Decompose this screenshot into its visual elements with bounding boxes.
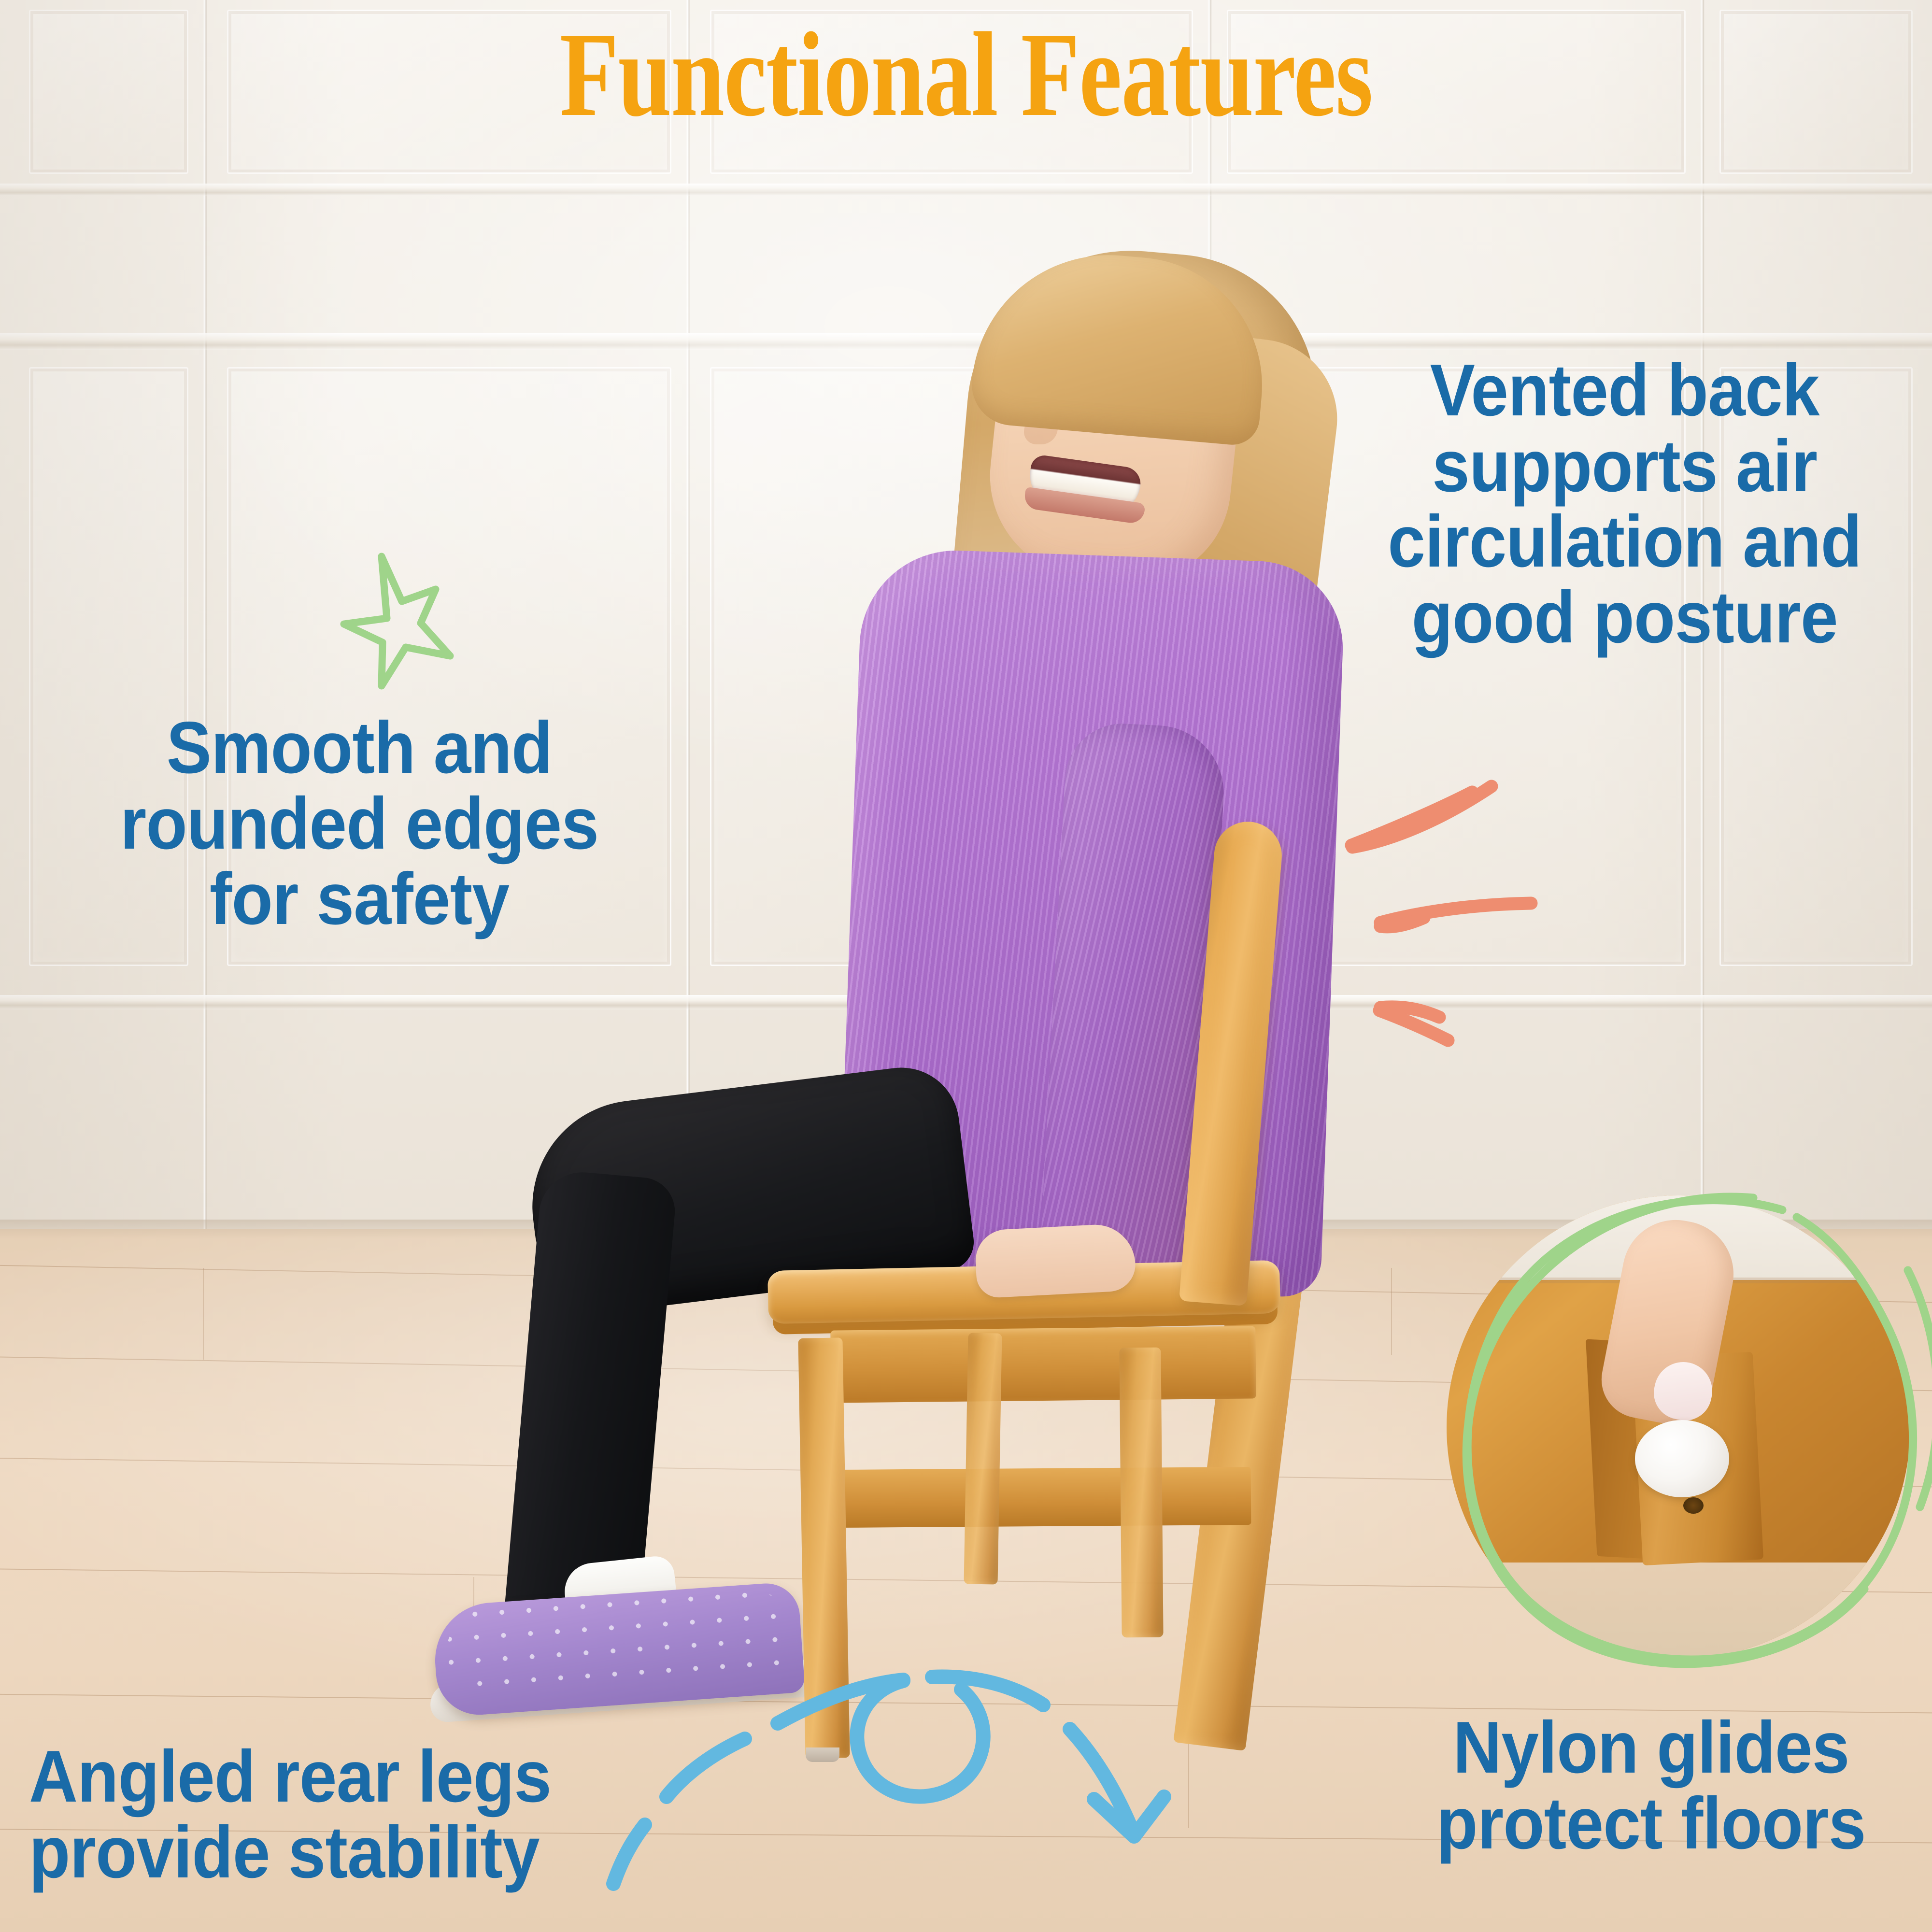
callout-line: good posture bbox=[1367, 580, 1882, 655]
white-nylon-glide bbox=[1635, 1420, 1729, 1497]
callout-line: Vented back bbox=[1367, 353, 1882, 428]
callout-line: protect floors bbox=[1420, 1786, 1882, 1861]
callout-line: for safety bbox=[104, 861, 615, 937]
callout-smooth-edges: Smooth and rounded edges for safety bbox=[104, 710, 615, 937]
callout-nylon-glides: Nylon glides protect floors bbox=[1420, 1710, 1882, 1861]
glide-screw-hole bbox=[1683, 1497, 1704, 1514]
nylon-glide-inset-photo bbox=[1447, 1195, 1910, 1659]
feature-graphic: Functional Features Vented back supports… bbox=[0, 0, 1932, 1932]
chair-stretcher-rail bbox=[840, 1467, 1251, 1528]
page-title: Functional Features bbox=[193, 10, 1739, 140]
nylon-glide-front-left bbox=[806, 1747, 839, 1762]
callout-line: Smooth and bbox=[104, 710, 615, 786]
callout-line: Nylon glides bbox=[1420, 1710, 1882, 1786]
chair-leg-front-left bbox=[798, 1337, 850, 1758]
callout-line: provide stability bbox=[29, 1815, 584, 1890]
hand-on-seat bbox=[974, 1222, 1137, 1298]
chair-apron bbox=[830, 1326, 1256, 1403]
callout-line: Angled rear legs bbox=[29, 1739, 584, 1815]
callout-angled-rear-legs: Angled rear legs provide stability bbox=[29, 1739, 584, 1890]
callout-vented-back: Vented back supports air circulation and… bbox=[1367, 353, 1882, 655]
chair-leg-front-right bbox=[1119, 1348, 1163, 1638]
chair-leg-back-left bbox=[964, 1333, 1002, 1584]
callout-line: supports air bbox=[1367, 428, 1882, 504]
callout-line: circulation and bbox=[1367, 504, 1882, 580]
callout-line: rounded edges bbox=[104, 786, 615, 862]
